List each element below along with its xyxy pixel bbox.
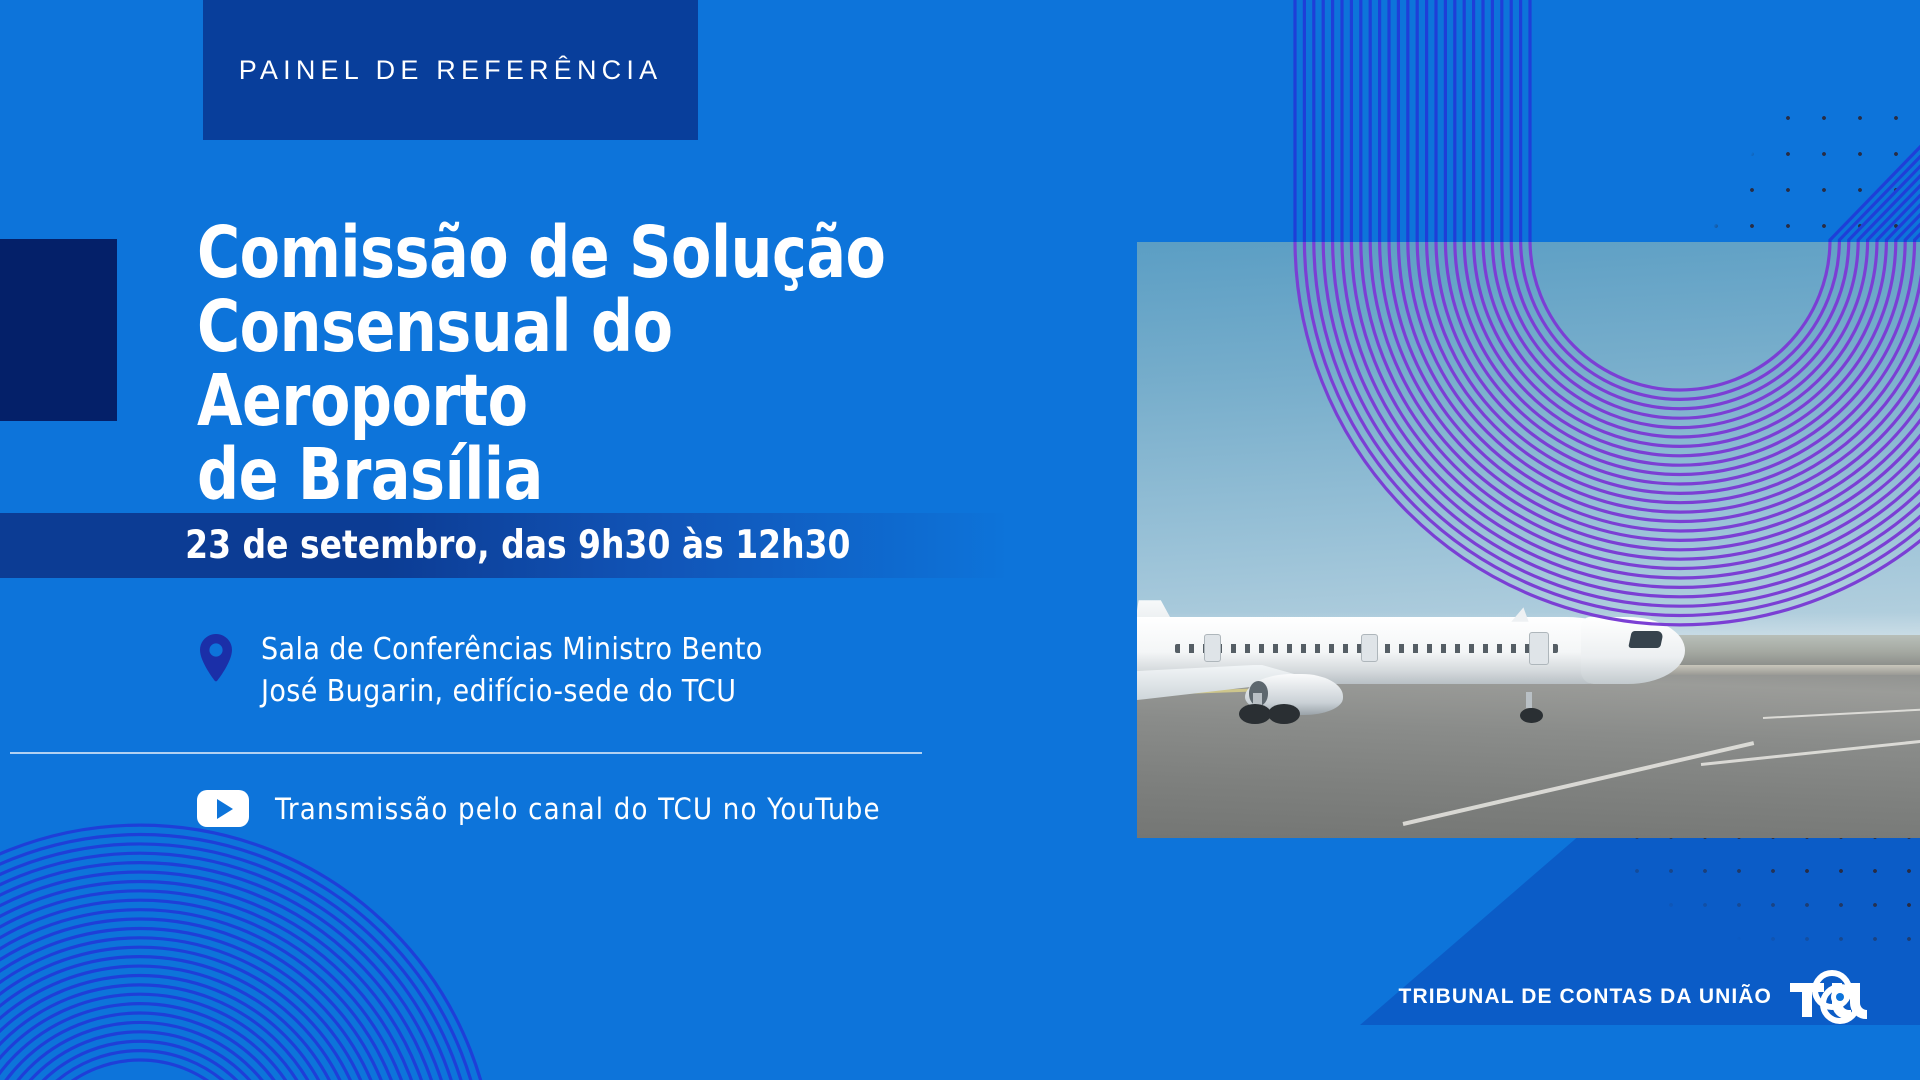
airplane-door (1529, 632, 1550, 665)
venue-address: Sala de Conferências Ministro Bento José… (261, 629, 763, 713)
airplane-wheel (1268, 704, 1300, 724)
footer-logo-block: TRIBUNAL DE CONTAS DA UNIÃO (1399, 966, 1874, 1028)
page-title-line-2: Consensual do Aeroporto (197, 290, 988, 438)
airplane-stabilizer (1511, 607, 1528, 621)
page-title-line-1: Comissão de Solução (197, 216, 988, 290)
badge-label: PAINEL DE REFERÊNCIA (239, 55, 663, 86)
airplane-nose (1581, 617, 1685, 684)
location-pin-icon (197, 633, 235, 683)
stream-block[interactable]: Transmissão pelo canal do TCU no YouTube (197, 790, 881, 827)
dot-grid-bottom-right-icon (1620, 820, 1920, 970)
tcu-logo-icon (1788, 966, 1874, 1028)
stream-label: Transmissão pelo canal do TCU no YouTube (275, 792, 881, 826)
airplane-photo (1137, 242, 1920, 838)
play-triangle-icon (217, 799, 233, 819)
airplane-icon (1137, 591, 1685, 710)
youtube-play-icon[interactable] (197, 790, 249, 827)
airplane-cockpit-window (1628, 631, 1663, 648)
page-title-line-3: de Brasília (197, 438, 988, 512)
section-divider (10, 752, 922, 754)
event-date-band: 23 de setembro, das 9h30 às 12h30 (0, 513, 1010, 578)
page-title: Comissão de Solução Consensual do Aeropo… (197, 216, 988, 512)
badge-painel-de-referencia: PAINEL DE REFERÊNCIA (203, 0, 698, 140)
accent-square (0, 239, 117, 421)
airplane-door (1204, 634, 1221, 662)
airplane-wheel (1239, 704, 1271, 724)
airplane-nose-wheel (1520, 708, 1543, 723)
organization-name: TRIBUNAL DE CONTAS DA UNIÃO (1399, 985, 1772, 1009)
poster-canvas: PAINEL DE REFERÊNCIA Comissão de Solução… (0, 0, 1920, 1080)
venue-block: Sala de Conferências Ministro Bento José… (197, 629, 763, 713)
event-date-text: 23 de setembro, das 9h30 às 12h30 (0, 523, 851, 568)
swirl-bottom-left-icon (0, 880, 360, 1080)
airplane-door (1361, 634, 1378, 662)
airplane-landing-gear-strut (1526, 692, 1532, 707)
